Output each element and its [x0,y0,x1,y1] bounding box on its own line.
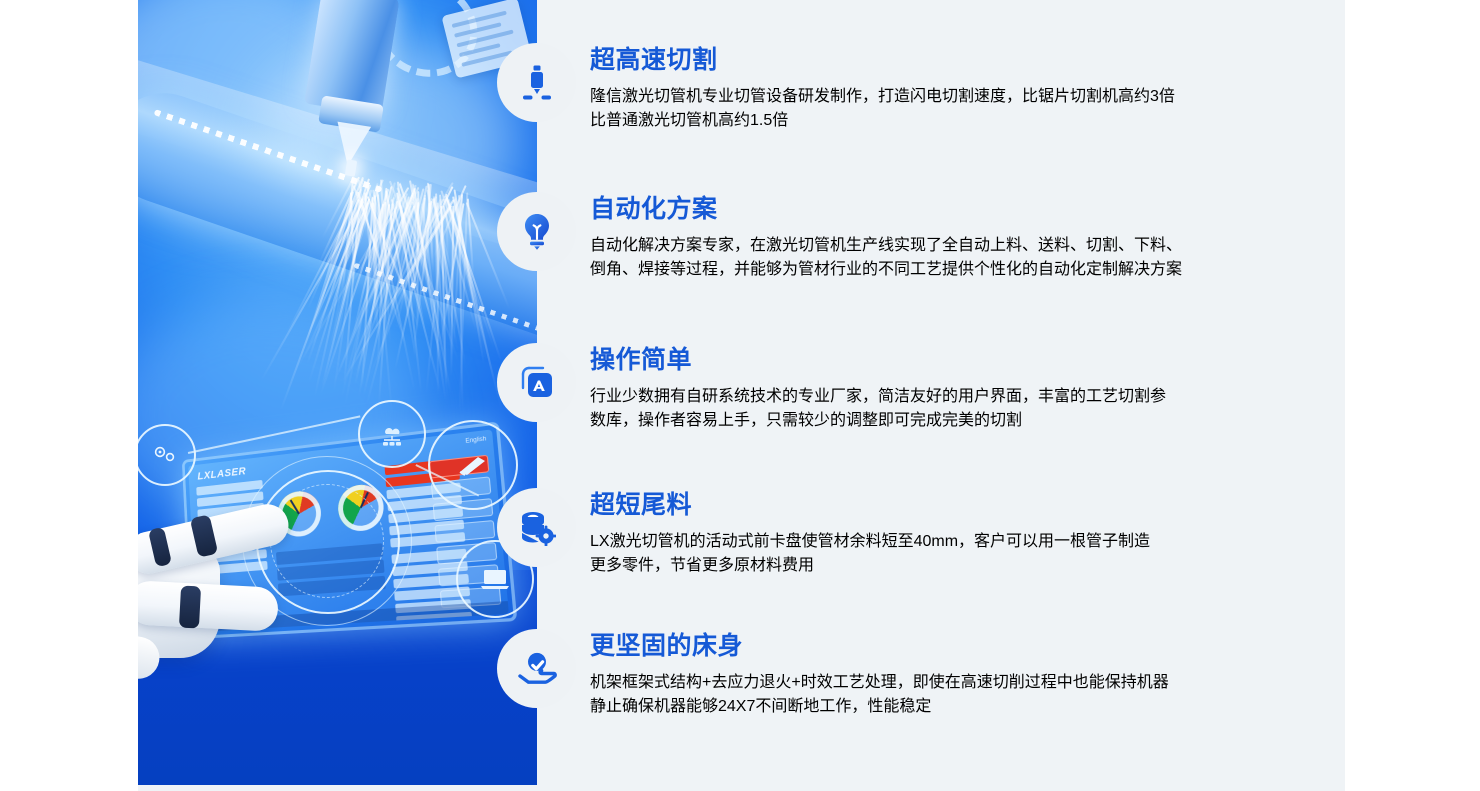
feature-desc-line: 倒角、焊接等过程，并能够为管材行业的不同工艺提供个性化的自动化定制解决方案 [590,255,1182,279]
feature-desc-line: LX激光切管机的活动式前卡盘使管材余料短至40mm，客户可以用一根管子制造 [590,527,1150,551]
database-gear-icon [497,488,576,567]
feature-desc-line: 比普通激光切管机高约1.5倍 [590,106,1175,130]
feature-desc-line: 数库，操作者容易上手，只需较少的调整即可完成完美的切割 [590,406,1166,430]
product-photo: LXLASER English [138,0,537,785]
feature-desc-line: 自动化解决方案专家，在激光切管机生产线实现了全自动上料、送料、切割、下料、 [590,231,1182,255]
laser-cutting-head [304,0,400,115]
feature-desc-line: 行业少数拥有自研系统技术的专业厂家，简洁友好的用户界面，丰富的工艺切割参 [590,382,1166,406]
feature-text: 自动化方案 自动化解决方案专家，在激光切管机生产线实现了全自动上料、送料、切割、… [590,192,1182,295]
lightbulb-icon [497,192,576,271]
feature-item-easy-operation[interactable]: 操作简单 行业少数拥有自研系统技术的专业厂家，简洁友好的用户界面，丰富的工艺切割… [497,343,1345,446]
feature-item-automation-solution[interactable]: 自动化方案 自动化解决方案专家，在激光切管机生产线实现了全自动上料、送料、切割、… [497,192,1345,295]
feature-desc-line: 静止确保机器能够24X7不间断地工作，性能稳定 [590,692,1169,716]
feature-text: 超高速切割 隆信激光切管机专业切管设备研发制作，打造闪电切割速度，比锯片切割机高… [590,43,1175,146]
robot-knuckle [179,586,201,629]
app-window-letter-a-icon [497,343,576,422]
photo-left-margin [0,0,138,791]
page-stage: LXLASER English [0,0,1480,791]
feature-list: 超高速切割 隆信激光切管机专业切管设备研发制作，打造闪电切割速度，比锯片切割机高… [497,0,1345,791]
robot-middle-finger [138,580,279,632]
robot-hand [138,480,360,700]
feature-text: 更坚固的床身 机架框架式结构+去应力退火+时效工艺处理，即使在高速切削过程中也能… [590,629,1169,732]
feature-text: 操作简单 行业少数拥有自研系统技术的专业厂家，简洁友好的用户界面，丰富的工艺切割… [590,343,1166,446]
feature-text: 超短尾料 LX激光切管机的活动式前卡盘使管材余料短至40mm，客户可以用一根管子… [590,488,1150,591]
feature-title: 更坚固的床身 [590,631,1169,661]
feature-desc-line: 机架框架式结构+去应力退火+时效工艺处理，即使在高速切削过程中也能保持机器 [590,668,1169,692]
hud-node-cloud-network-icon [358,400,426,468]
hand-check-icon [497,629,576,708]
feature-title: 超短尾料 [590,490,1150,520]
feature-item-stronger-machine-bed[interactable]: 更坚固的床身 机架框架式结构+去应力退火+时效工艺处理，即使在高速切削过程中也能… [497,629,1345,732]
feature-item-ultra-short-tail-material[interactable]: 超短尾料 LX激光切管机的活动式前卡盘使管材余料短至40mm，客户可以用一根管子… [497,488,1345,591]
feature-item-ultra-high-speed-cutting[interactable]: 超高速切割 隆信激光切管机专业切管设备研发制作，打造闪电切割速度，比锯片切割机高… [497,43,1345,146]
feature-desc-line: 隆信激光切管机专业切管设备研发制作，打造闪电切割速度，比锯片切割机高约3倍 [590,82,1175,106]
feature-title: 操作简单 [590,345,1166,375]
feature-title: 超高速切割 [590,45,1175,75]
feature-title: 自动化方案 [590,194,1182,224]
hmi-menu-button [434,520,495,543]
feature-desc-line: 更多零件，节省更多原材料费用 [590,551,1150,575]
laser-cutting-head-icon [497,43,576,122]
